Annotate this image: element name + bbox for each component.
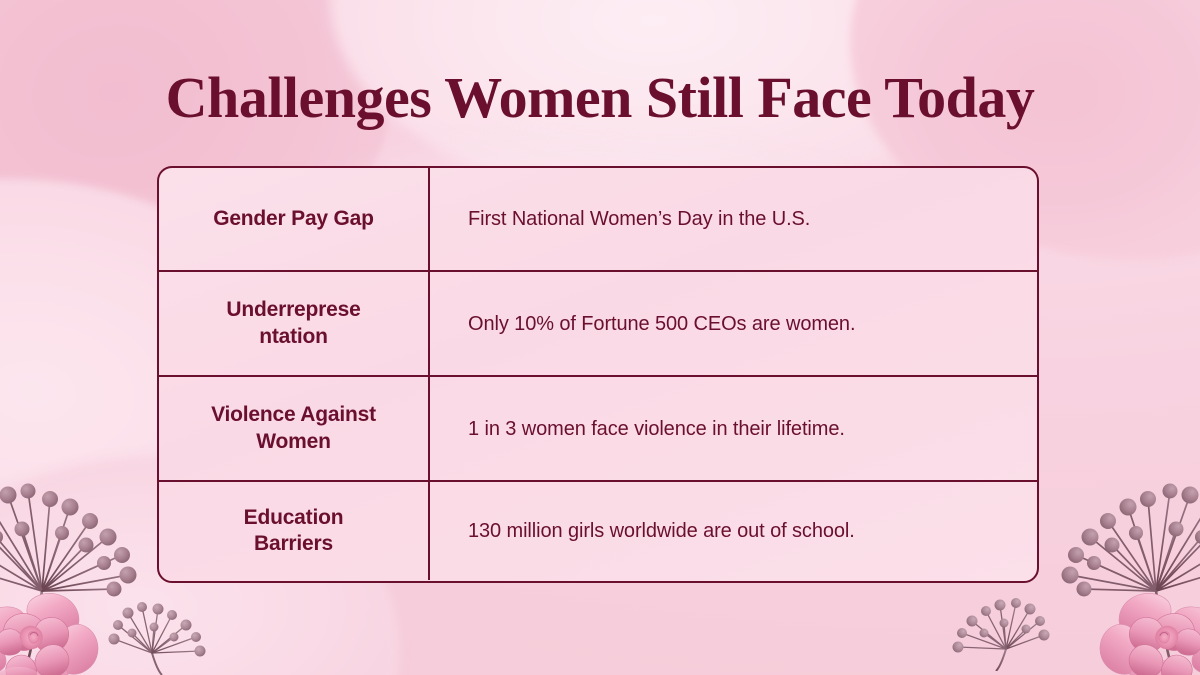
table-row: Underreprese ntation Only 10% of Fortune… <box>159 272 1037 377</box>
table-cell-label-text: Violence Against Women <box>211 402 376 454</box>
challenges-table: Gender Pay Gap First National Women’s Da… <box>157 166 1039 583</box>
slide-canvas: Challenges Women Still Face Today Gender… <box>0 0 1200 675</box>
table-cell-label-text: Underreprese ntation <box>226 297 360 349</box>
table-cell-value: First National Women’s Day in the U.S. <box>430 168 1037 270</box>
table-row: Education Barriers 130 million girls wor… <box>159 482 1037 580</box>
table-cell-value: 1 in 3 women face violence in their life… <box>430 377 1037 480</box>
table-cell-label-text: Gender Pay Gap <box>213 206 374 232</box>
table-cell-label: Gender Pay Gap <box>159 168 430 270</box>
label-line-1: Education <box>244 506 344 529</box>
table-cell-value: 130 million girls worldwide are out of s… <box>430 482 1037 580</box>
label-line-2: Barriers <box>254 532 333 555</box>
table-cell-label: Education Barriers <box>159 482 430 580</box>
table-cell-value-text: Only 10% of Fortune 500 CEOs are women. <box>468 311 855 337</box>
label-line-2: Women <box>256 430 330 453</box>
label-line-1: Violence Against <box>211 403 376 426</box>
table-cell-label-text: Education Barriers <box>244 505 344 557</box>
table-row: Gender Pay Gap First National Women’s Da… <box>159 168 1037 272</box>
label-line-1: Underreprese <box>226 298 360 321</box>
table-cell-value-text: First National Women’s Day in the U.S. <box>468 206 810 232</box>
table-cell-value-text: 130 million girls worldwide are out of s… <box>468 518 855 544</box>
table-cell-value-text: 1 in 3 women face violence in their life… <box>468 416 845 442</box>
table-cell-value: Only 10% of Fortune 500 CEOs are women. <box>430 272 1037 375</box>
table-cell-label: Violence Against Women <box>159 377 430 480</box>
table-cell-label: Underreprese ntation <box>159 272 430 375</box>
label-line-2: ntation <box>259 325 328 348</box>
page-title: Challenges Women Still Face Today <box>0 64 1200 131</box>
table-row: Violence Against Women 1 in 3 women face… <box>159 377 1037 482</box>
